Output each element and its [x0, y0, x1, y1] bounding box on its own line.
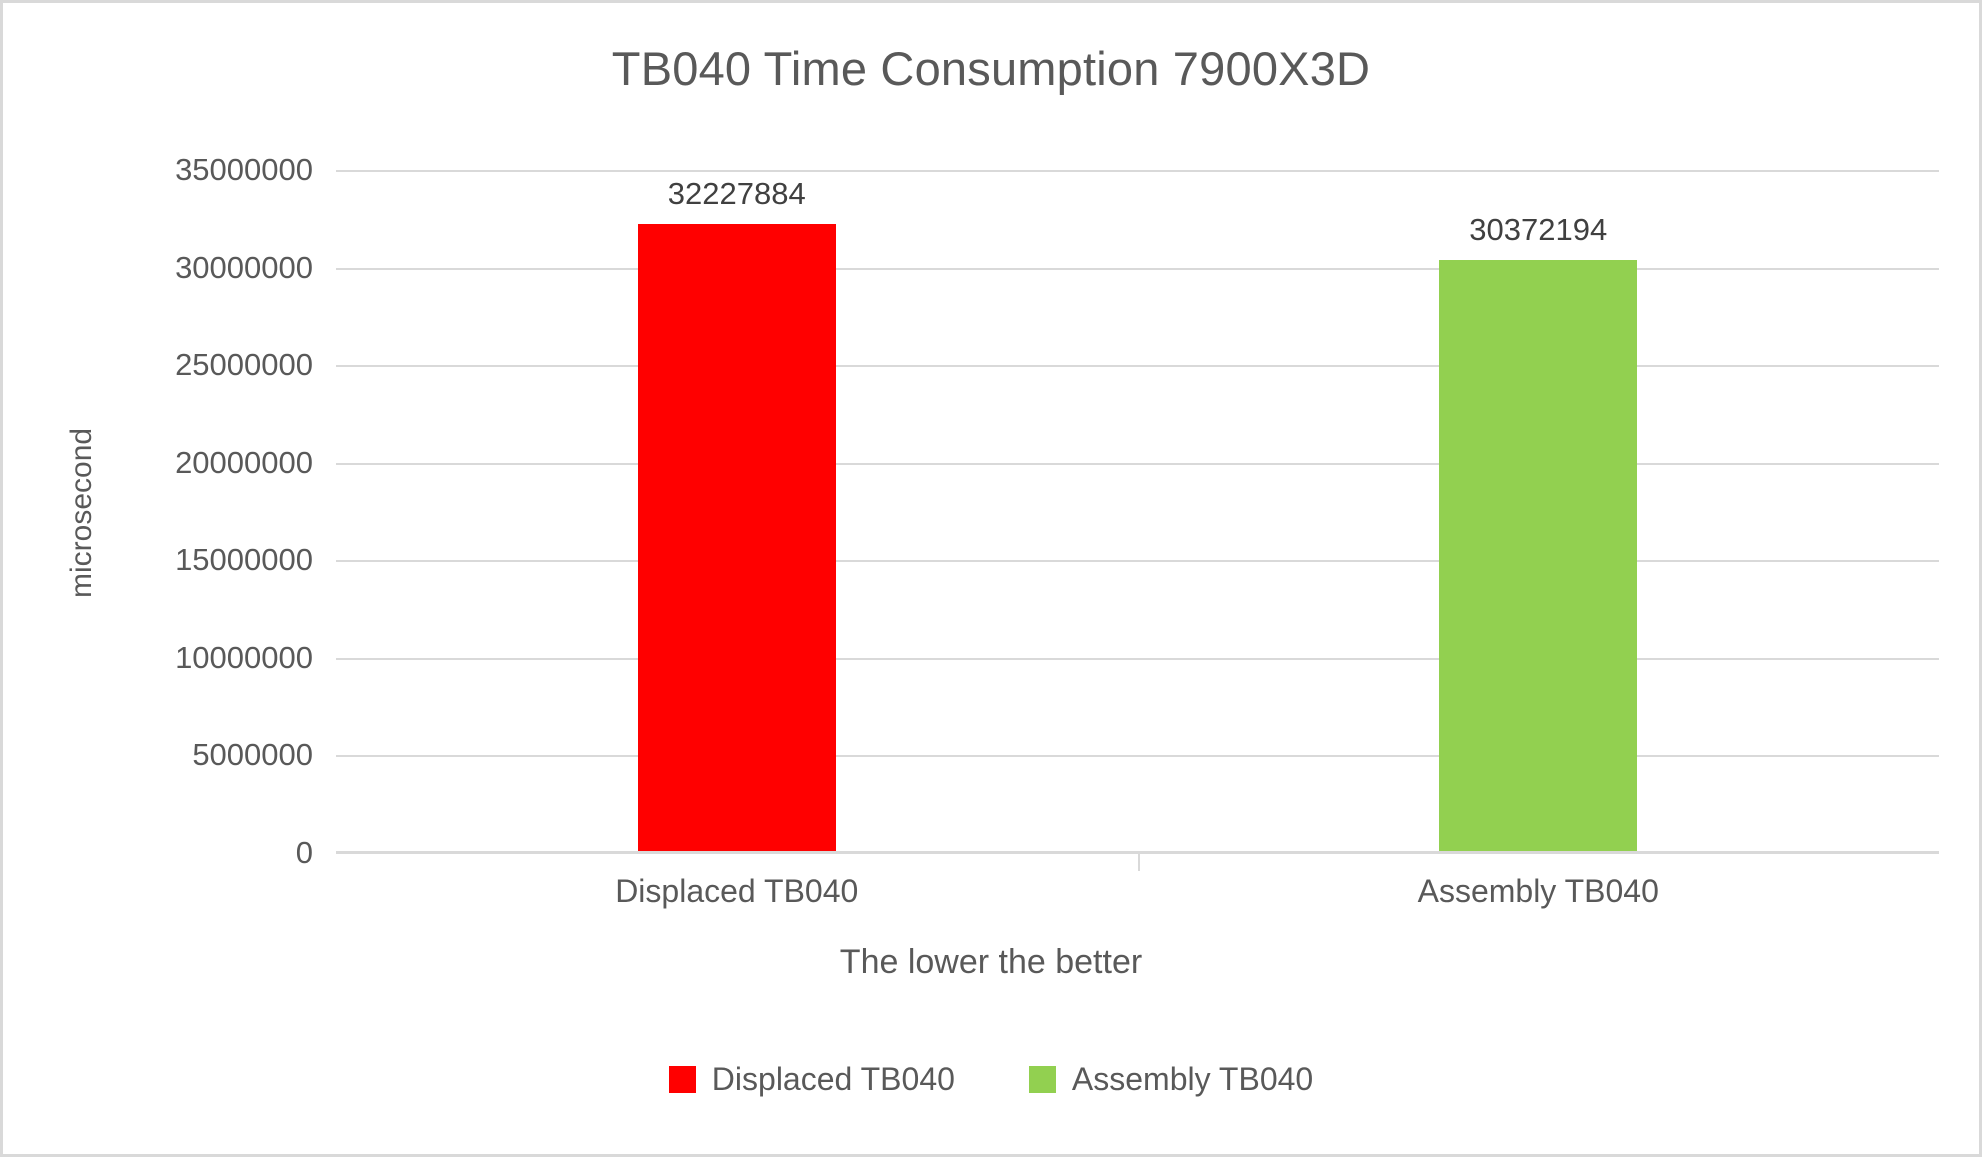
- y-axis-tick-label: 5000000: [113, 737, 313, 773]
- y-axis-tick-label: 10000000: [113, 640, 313, 676]
- legend-item[interactable]: Displaced TB040: [669, 1061, 955, 1098]
- y-axis-tick-label: 35000000: [113, 152, 313, 188]
- gridline: [336, 658, 1939, 660]
- x-axis-category-label: Displaced TB040: [615, 873, 858, 910]
- gridline: [336, 365, 1939, 367]
- gridline: [336, 463, 1939, 465]
- legend-swatch-icon: [669, 1066, 696, 1093]
- x-axis-tick: [1138, 851, 1140, 871]
- y-axis-tick-label: 0: [113, 835, 313, 871]
- x-axis-category-label: Assembly TB040: [1418, 873, 1659, 910]
- y-axis-tick-label: 30000000: [113, 250, 313, 286]
- bar[interactable]: [1439, 260, 1637, 853]
- plot-area: 3222788430372194: [336, 170, 1939, 853]
- chart-title: TB040 Time Consumption 7900X3D: [3, 41, 1979, 96]
- gridline: [336, 560, 1939, 562]
- x-axis-title: The lower the better: [3, 943, 1979, 982]
- bar-value-label: 32227884: [668, 176, 806, 212]
- y-axis-tick-label: 25000000: [113, 347, 313, 383]
- chart-legend: Displaced TB040Assembly TB040: [3, 1061, 1979, 1098]
- y-axis-tick-labels: 3500000030000000250000002000000015000000…: [113, 170, 313, 853]
- bar[interactable]: [638, 224, 836, 853]
- legend-item[interactable]: Assembly TB040: [1029, 1061, 1313, 1098]
- y-axis-title: microsecond: [65, 393, 105, 633]
- chart-container: TB040 Time Consumption 7900X3D microseco…: [0, 0, 1982, 1157]
- y-axis-tick-label: 20000000: [113, 445, 313, 481]
- legend-swatch-icon: [1029, 1066, 1056, 1093]
- gridline: [336, 755, 1939, 757]
- legend-label: Displaced TB040: [712, 1061, 955, 1098]
- x-axis-category-labels: Displaced TB040Assembly TB040: [336, 873, 1939, 929]
- gridline: [336, 268, 1939, 270]
- gridline: [336, 170, 1939, 172]
- legend-label: Assembly TB040: [1072, 1061, 1313, 1098]
- y-axis-tick-label: 15000000: [113, 542, 313, 578]
- bar-value-label: 30372194: [1469, 212, 1607, 248]
